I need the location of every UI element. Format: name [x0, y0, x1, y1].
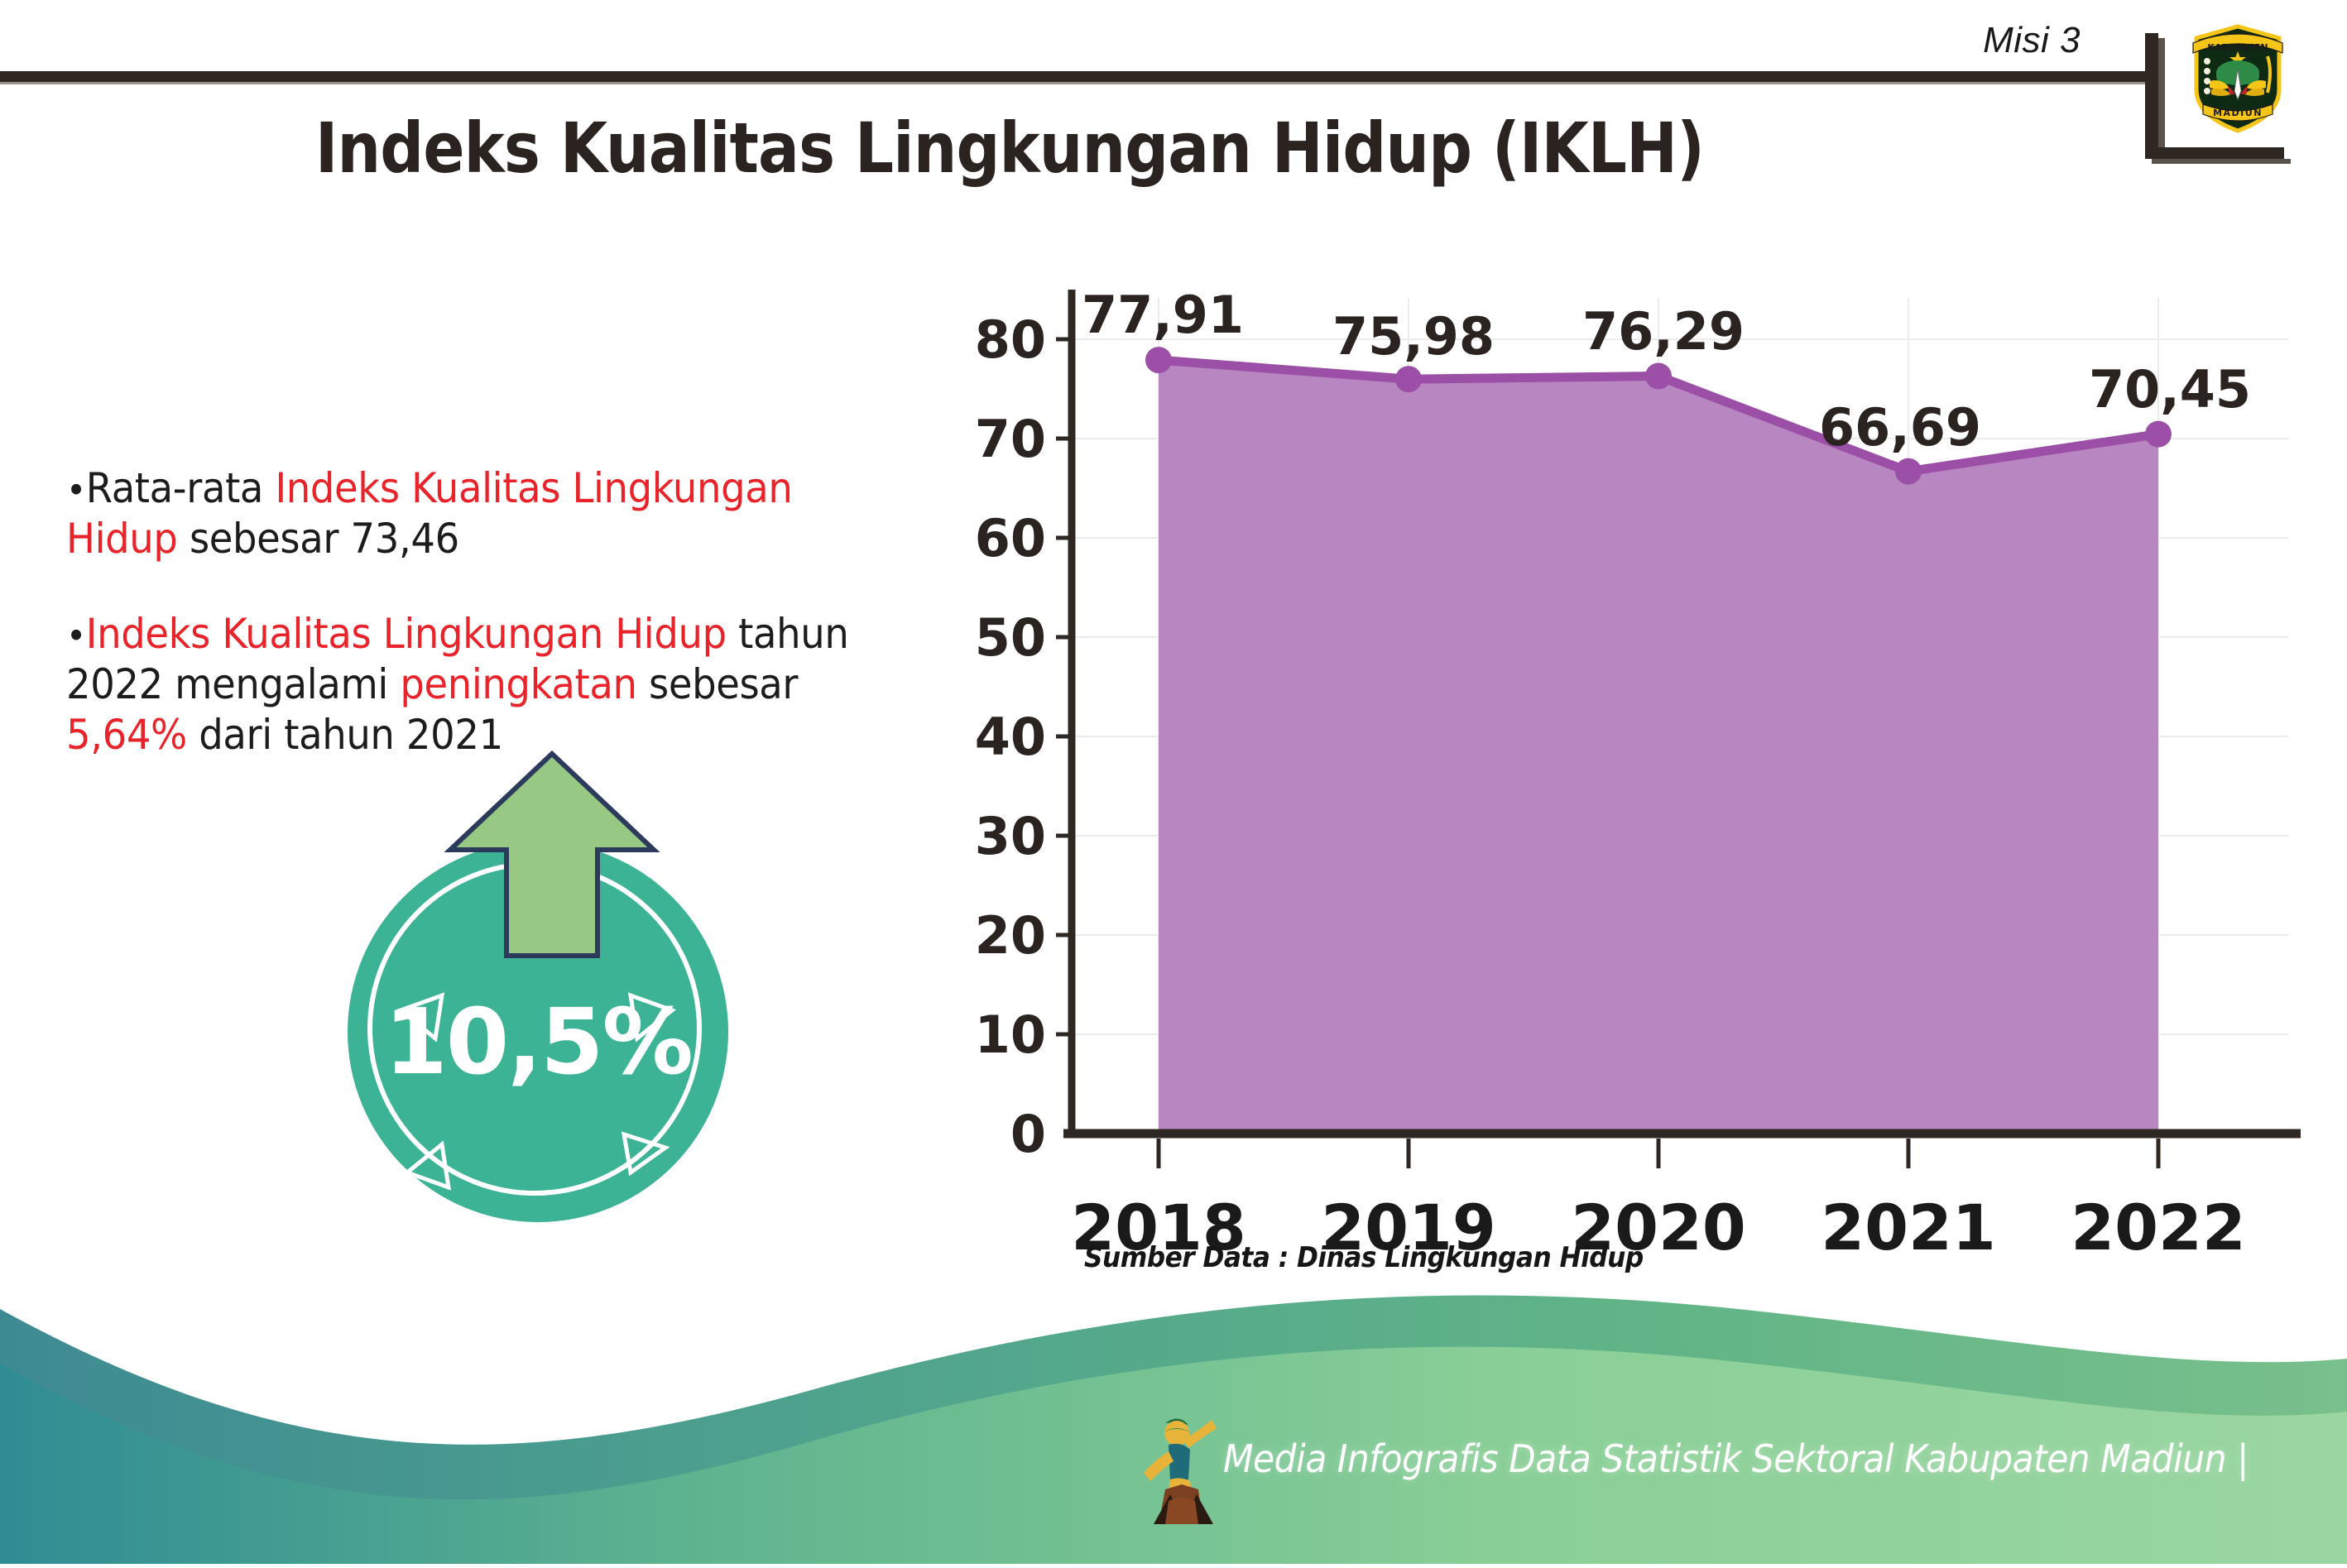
bullet2-text-d: sebesar [637, 660, 799, 708]
badge-percent-label: 10,5% [348, 989, 728, 1095]
chart-y-label-70: 70 [977, 409, 1046, 469]
bullet1-text-a: Rata-rata [86, 464, 276, 512]
bracket-vertical-bar [2145, 33, 2158, 159]
bracket-vertical-shadow [2158, 38, 2165, 159]
chart-y-label-30: 30 [977, 806, 1046, 866]
kabupaten-madiun-crest-icon: KABUPATEN MADIUN [2185, 13, 2291, 137]
chart-data-label-2019: 75,98 [1332, 306, 1495, 367]
iklh-area-chart: 77,91 75,98 76,29 66,69 70,45 80 70 60 5… [977, 290, 2301, 1283]
bracket-horizontal-bar [2145, 147, 2284, 159]
bracket-horizontal-shadow [2152, 159, 2291, 164]
bullet-item-increase: •Indeks Kualitas Lingkungan Hidup tahun … [66, 609, 905, 760]
chart-data-label-2020: 76,29 [1582, 301, 1745, 362]
chart-data-label-2022: 70,45 [2089, 359, 2251, 420]
badge-tick-bottom-right-icon [612, 1123, 670, 1181]
increase-badge: 10,5% [331, 749, 745, 1212]
bullet2-text-a: Indeks Kualitas Lingkungan Hidup [86, 610, 727, 658]
chart-data-label-2021: 66,69 [1819, 397, 1981, 458]
chart-y-tick-labels: 80 70 60 50 40 30 20 10 0 [977, 309, 1046, 1164]
bullet-dot-icon: • [66, 470, 86, 512]
chart-x-label-2022: 2022 [2071, 1191, 2246, 1264]
chart-y-label-10: 10 [977, 1005, 1046, 1065]
chart-y-label-40: 40 [977, 707, 1046, 767]
bullet-item-average: •Rata-rata Indeks Kualitas Lingkungan Hi… [66, 463, 905, 564]
page-title: Indeks Kualitas Lingkungan Hidup (IKLH) [121, 108, 1898, 189]
footer-caption: Media Infografis Data Statistik Sektoral… [1223, 1436, 2249, 1481]
bullet1-text-c: sebesar 73,46 [178, 515, 459, 563]
chart-area-fill [1159, 360, 2158, 1134]
header-rule [0, 71, 2147, 84]
bullet-dot-icon: • [66, 616, 86, 658]
mission-label: Misi 3 [1983, 20, 2081, 61]
chart-y-label-80: 80 [977, 309, 1046, 370]
crest-bottom-banner-text: MADIUN [2213, 108, 2263, 118]
chart-y-label-50: 50 [977, 607, 1046, 668]
chart-data-label-2018: 77,91 [1082, 290, 1244, 345]
bullet2-text-c: peningkatan [400, 660, 636, 708]
chart-y-label-0: 0 [1010, 1104, 1046, 1164]
chart-y-label-20: 20 [977, 905, 1046, 966]
media-infografis-figure-icon [1140, 1408, 1226, 1532]
chart-x-label-2021: 2021 [1821, 1191, 1996, 1264]
bullet2-text-e: 5,64% [66, 711, 187, 759]
up-arrow-icon [432, 749, 672, 989]
chart-x-tick-marks [1159, 1139, 2158, 1168]
chart-y-label-60: 60 [977, 508, 1046, 568]
badge-tick-bottom-left-icon [402, 1138, 460, 1196]
